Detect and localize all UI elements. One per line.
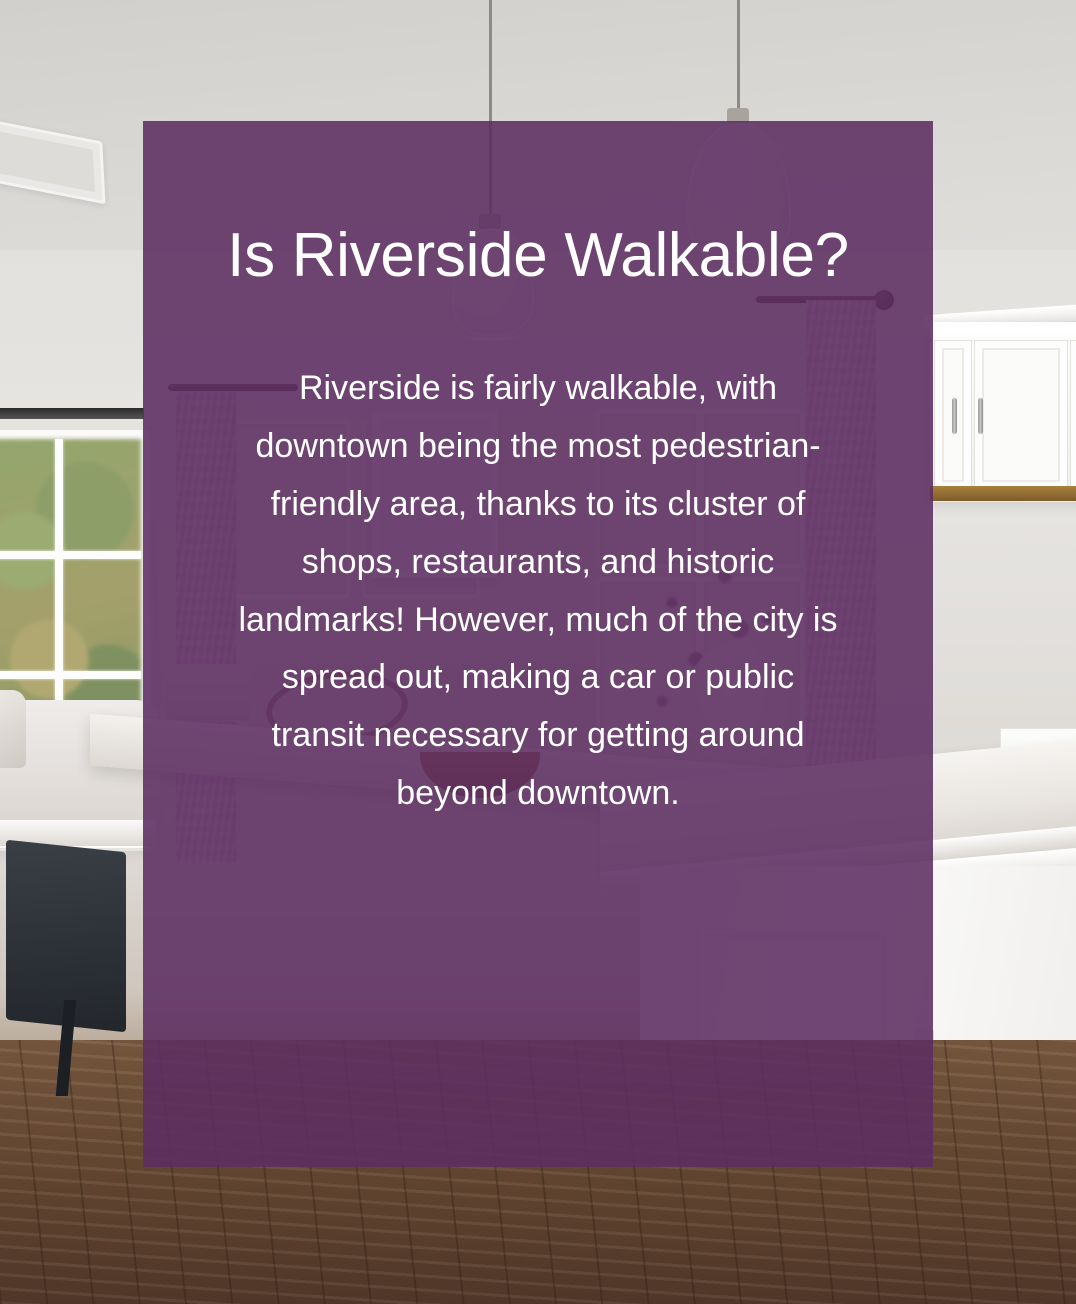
social-post-card: Is Riverside Walkable? Riverside is fair…: [0, 0, 1076, 1304]
cabinet-door: [974, 340, 1068, 490]
window-header-bar: [0, 408, 144, 419]
body-paragraph: Riverside is fairly walkable, with downt…: [238, 290, 838, 822]
purple-overlay-card: Is Riverside Walkable? Riverside is fair…: [143, 121, 933, 1167]
wood-shelf: [930, 486, 1076, 501]
window-mullion: [0, 551, 141, 559]
sofa-arm: [0, 690, 26, 768]
page-title: Is Riverside Walkable?: [195, 121, 881, 290]
cabinet-pull: [978, 398, 983, 434]
cabinet-pull: [952, 398, 957, 434]
window-mullion: [0, 671, 141, 679]
cabinet-door: [1070, 340, 1076, 490]
pendant-light-right-cord: [737, 0, 740, 112]
